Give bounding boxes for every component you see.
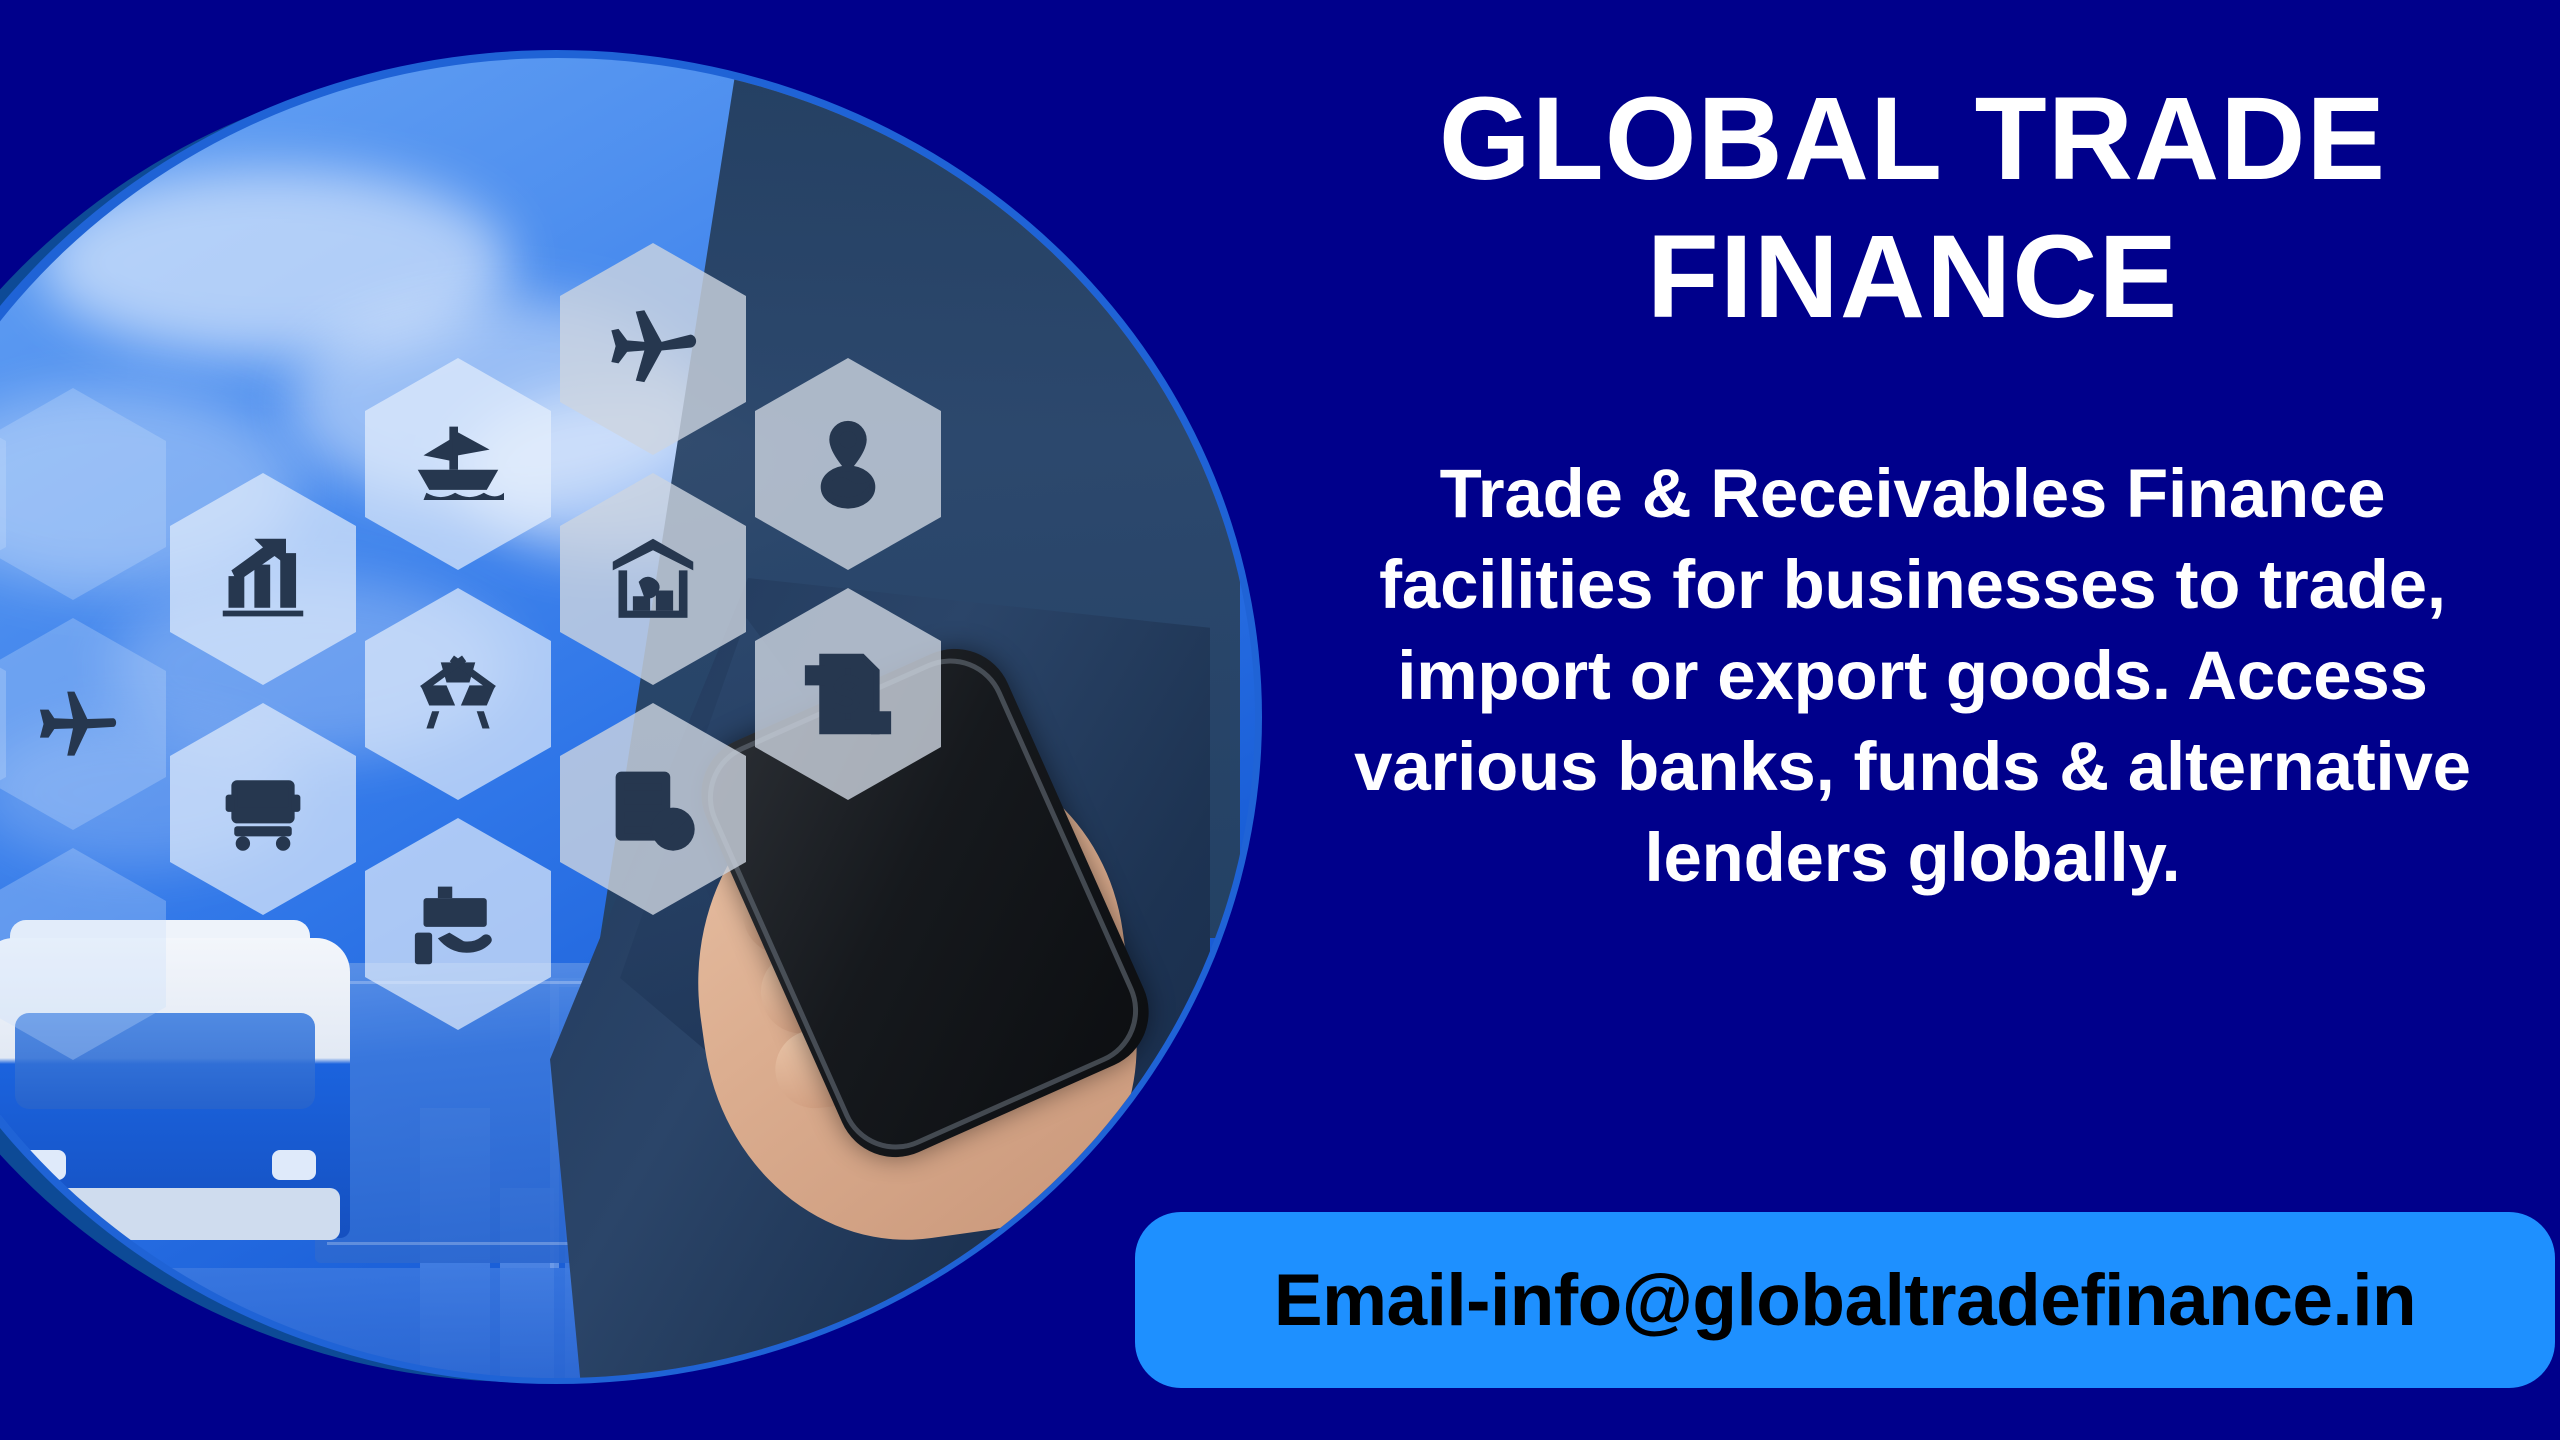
email-button-label: Email-info@globaltradefinance.in bbox=[1274, 1259, 2416, 1342]
email-contact-button[interactable]: Email-info@globaltradefinance.in bbox=[1135, 1212, 2555, 1388]
headline-line-2: FINANCE bbox=[1647, 211, 2178, 343]
subcopy-text: Trade & Receivables Finance facilities f… bbox=[1323, 448, 2503, 903]
headlight bbox=[22, 1150, 66, 1180]
truck-bumper bbox=[0, 1188, 340, 1240]
headline-line-1: GLOBAL TRADE bbox=[1439, 73, 2386, 205]
page-title: GLOBAL TRADE FINANCE bbox=[1298, 70, 2528, 346]
hero-image-circle bbox=[0, 58, 1255, 1378]
hero-photo bbox=[0, 58, 1255, 1378]
trade-finance-banner: GLOBAL TRADE FINANCE Trade & Receivables… bbox=[0, 0, 2560, 1440]
headlight bbox=[272, 1150, 316, 1180]
